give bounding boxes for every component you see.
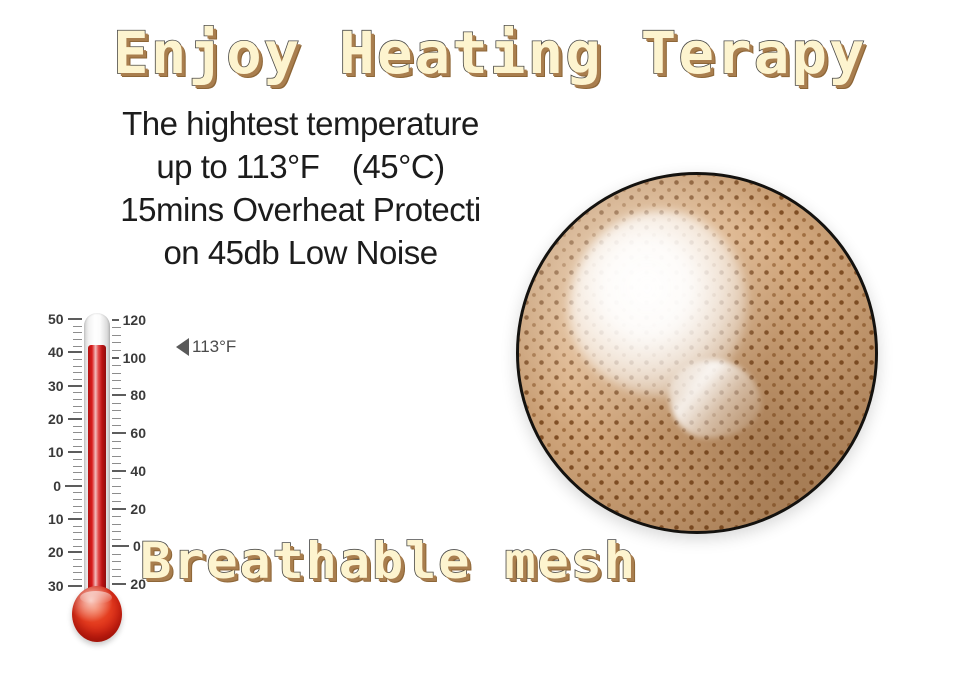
fahrenheit-tick-label: 60 [130,426,146,440]
celsius-minor-tick [73,439,82,440]
fahrenheit-tick-label: 100 [123,351,146,365]
celsius-minor-tick [73,512,82,513]
fahrenheit-minor-tick [112,327,121,328]
fahrenheit-minor-tick [112,554,121,555]
celsius-minor-tick [73,579,82,580]
max-temperature-label: 113°F [192,337,236,357]
celsius-tick-label: 20 [48,412,64,426]
celsius-tick-mark [68,551,82,553]
fahrenheit-minor-tick [112,561,121,562]
celsius-minor-tick [73,379,82,380]
celsius-tick-label: 50 [48,312,64,326]
feature-copy-line-3: 15mins Overheat Protecti [58,188,543,231]
celsius-minor-tick [73,526,82,527]
celsius-tick-mark [68,351,82,353]
fahrenheit-minor-tick [112,493,121,494]
fahrenheit-minor-tick [112,410,121,411]
celsius-tick-label: 30 [48,379,64,393]
breathable-mesh-banner: Breathable mesh [140,533,637,589]
celsius-minor-tick [73,399,82,400]
fahrenheit-tick-mark [112,357,119,359]
celsius-tick-mark [68,385,82,387]
celsius-tick-mark [68,585,82,587]
fahrenheit-minor-tick [112,569,121,570]
celsius-minor-tick [73,446,82,447]
thermometer-mercury-column [88,345,106,603]
fahrenheit-minor-tick [112,456,121,457]
thermometer-bulb [72,586,122,642]
left-triangle-icon [176,338,189,356]
fahrenheit-minor-tick [112,373,121,374]
fahrenheit-tick-label: 20 [130,502,146,516]
celsius-minor-tick [73,406,82,407]
celsius-minor-tick [73,572,82,573]
celsius-minor-tick [73,546,82,547]
fahrenheit-minor-tick [112,531,121,532]
max-temperature-marker: 113°F [176,337,236,357]
feature-copy-block: The hightest temperature up to 113°F (45… [58,102,543,274]
fahrenheit-tick-label: 80 [130,388,146,402]
celsius-tick-label: 30 [48,579,64,593]
celsius-minor-tick [73,506,82,507]
fahrenheit-minor-tick [112,418,121,419]
fahrenheit-minor-tick [112,425,121,426]
fahrenheit-minor-tick [112,486,121,487]
celsius-minor-tick [73,432,82,433]
fahrenheit-tick-mark [112,319,119,321]
fahrenheit-minor-tick [112,365,121,366]
celsius-minor-tick [73,366,82,367]
celsius-minor-tick [73,326,82,327]
celsius-minor-tick [73,472,82,473]
celsius-minor-tick [73,339,82,340]
celsius-minor-tick [73,412,82,413]
celsius-minor-tick [73,499,82,500]
celsius-tick-mark [68,318,82,320]
celsius-minor-tick [73,539,82,540]
fahrenheit-tick-mark [112,470,126,472]
fahrenheit-tick-mark [112,508,126,510]
fahrenheit-tick-mark [112,394,126,396]
fahrenheit-minor-tick [112,448,121,449]
fahrenheit-tick-mark [112,545,129,547]
feature-copy-line-4: on 45db Low Noise [58,231,543,274]
celsius-tick-mark [65,485,82,487]
celsius-tick-label: 20 [48,545,64,559]
celsius-minor-tick [73,392,82,393]
fahrenheit-minor-tick [112,516,121,517]
celsius-minor-tick [73,466,82,467]
celsius-minor-tick [73,532,82,533]
celsius-tick-label: 0 [53,479,61,493]
celsius-minor-tick [73,332,82,333]
celsius-tick-label: 10 [48,445,64,459]
fahrenheit-minor-tick [112,380,121,381]
celsius-minor-tick [73,346,82,347]
fahrenheit-minor-tick [112,501,121,502]
celsius-minor-tick [73,479,82,480]
feature-copy-line-2: up to 113°F (45°C) [58,145,543,188]
celsius-tick-mark [68,451,82,453]
fahrenheit-tick-mark [112,583,126,585]
fahrenheit-tick-label: 40 [130,464,146,478]
fahrenheit-minor-tick [112,388,121,389]
celsius-minor-tick [73,359,82,360]
thermometer-illustration: 50403020100102030 12010080604020020 113°… [48,305,228,655]
fahrenheit-tick-label: 120 [123,313,146,327]
fahrenheit-minor-tick [112,350,121,351]
celsius-minor-tick [73,426,82,427]
fahrenheit-minor-tick [112,463,121,464]
breathable-mesh-photo [516,172,878,534]
celsius-minor-tick [73,492,82,493]
celsius-scale: 50403020100102030 [48,313,82,598]
page-title: Enjoy Heating Terapy [113,22,867,84]
fahrenheit-minor-tick [112,524,121,525]
fahrenheit-minor-tick [112,576,121,577]
fahrenheit-minor-tick [112,342,121,343]
fahrenheit-minor-tick [112,478,121,479]
celsius-tick-mark [68,518,82,520]
feature-copy-line-1: The hightest temperature [58,102,543,145]
celsius-tick-label: 10 [48,512,64,526]
celsius-minor-tick [73,559,82,560]
fahrenheit-minor-tick [112,403,121,404]
celsius-minor-tick [73,459,82,460]
fahrenheit-tick-mark [112,432,126,434]
celsius-tick-label: 40 [48,345,64,359]
celsius-minor-tick [73,372,82,373]
celsius-minor-tick [73,566,82,567]
fahrenheit-minor-tick [112,335,121,336]
celsius-tick-mark [68,418,82,420]
fahrenheit-minor-tick [112,539,121,540]
fahrenheit-minor-tick [112,441,121,442]
